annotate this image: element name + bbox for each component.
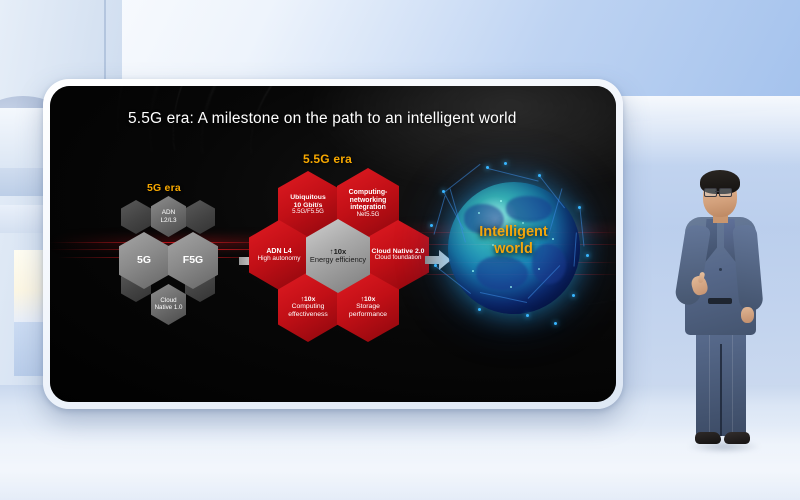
presenter-shoe-right xyxy=(724,432,750,444)
hex-sp-line1: ↑10x xyxy=(361,296,376,304)
hex-ubiquitous-line1: Ubiquitous xyxy=(290,194,326,202)
mesh-node xyxy=(554,322,557,325)
intelligent-world-line1: Intelligent xyxy=(426,224,601,241)
hex-cn2-line2: Cloud foundation xyxy=(375,255,422,262)
hex-ce-line3: effectiveness xyxy=(288,311,328,319)
mesh-node xyxy=(434,264,437,267)
hex-ce-line2: Computing xyxy=(292,303,325,311)
glasses-lens-left xyxy=(704,188,717,197)
slide-canvas: 5.5G era: A milestone on the path to an … xyxy=(50,86,616,402)
presenter-shoe-left xyxy=(695,432,721,444)
presenter-hand-right xyxy=(741,307,754,323)
era-label-5g: 5G era xyxy=(147,182,181,194)
mesh-node xyxy=(504,162,507,165)
hex-ubiquitous-line3: 5.5G/F5.5G xyxy=(292,209,324,216)
mesh-node xyxy=(526,314,529,317)
hex-adn-l2l3-line2: L2/L3 xyxy=(161,217,177,224)
glasses-lens-right xyxy=(719,188,732,197)
era-label-55g: 5.5G era xyxy=(303,152,352,166)
glasses-bridge xyxy=(715,191,719,192)
hex-cni-line2: networking xyxy=(350,197,387,205)
mesh-node xyxy=(538,174,541,177)
presenter-leg-split xyxy=(720,344,722,436)
display-screen-bezel: 5.5G era: A milestone on the path to an … xyxy=(43,79,623,409)
mesh-node xyxy=(578,206,581,209)
intelligent-world-label: Intelligent world xyxy=(426,224,601,257)
mesh-node xyxy=(442,190,445,193)
slide-title: 5.5G era: A milestone on the path to an … xyxy=(128,110,517,128)
hex-ee-label: Energy efficiency xyxy=(310,256,366,264)
hex-cni-line1: Computing- xyxy=(349,189,388,197)
trouser-crease-left xyxy=(709,324,710,432)
hex-adn-l2l3-line1: ADN xyxy=(162,209,176,216)
hex-sp-line3: performance xyxy=(349,311,387,319)
mesh-node xyxy=(478,308,481,311)
intelligent-world-globe: Intelligent world xyxy=(426,162,601,337)
hex-cni-line4: Net5.5G xyxy=(357,212,380,219)
hex-sp-line2: Storage xyxy=(356,303,380,311)
hex-adn-l4-line1: ADN L4 xyxy=(266,248,291,256)
presenter-belt xyxy=(708,298,732,304)
intelligent-world-line2: world xyxy=(426,241,601,258)
hex-5g-label: 5G xyxy=(137,255,151,267)
hex-adn-l4-line2: High autonomy xyxy=(258,255,301,262)
trouser-crease-right xyxy=(732,324,733,432)
mesh-node xyxy=(572,294,575,297)
mesh-node xyxy=(486,166,489,169)
hex-cloud-native-1-line2: Native 1.0 xyxy=(155,305,183,312)
presentation-scene: 5.5G era: A milestone on the path to an … xyxy=(0,0,800,500)
hex-ce-line1: ↑10x xyxy=(301,296,316,304)
presenter xyxy=(672,168,770,458)
hex-f5g-label: F5G xyxy=(183,255,203,267)
